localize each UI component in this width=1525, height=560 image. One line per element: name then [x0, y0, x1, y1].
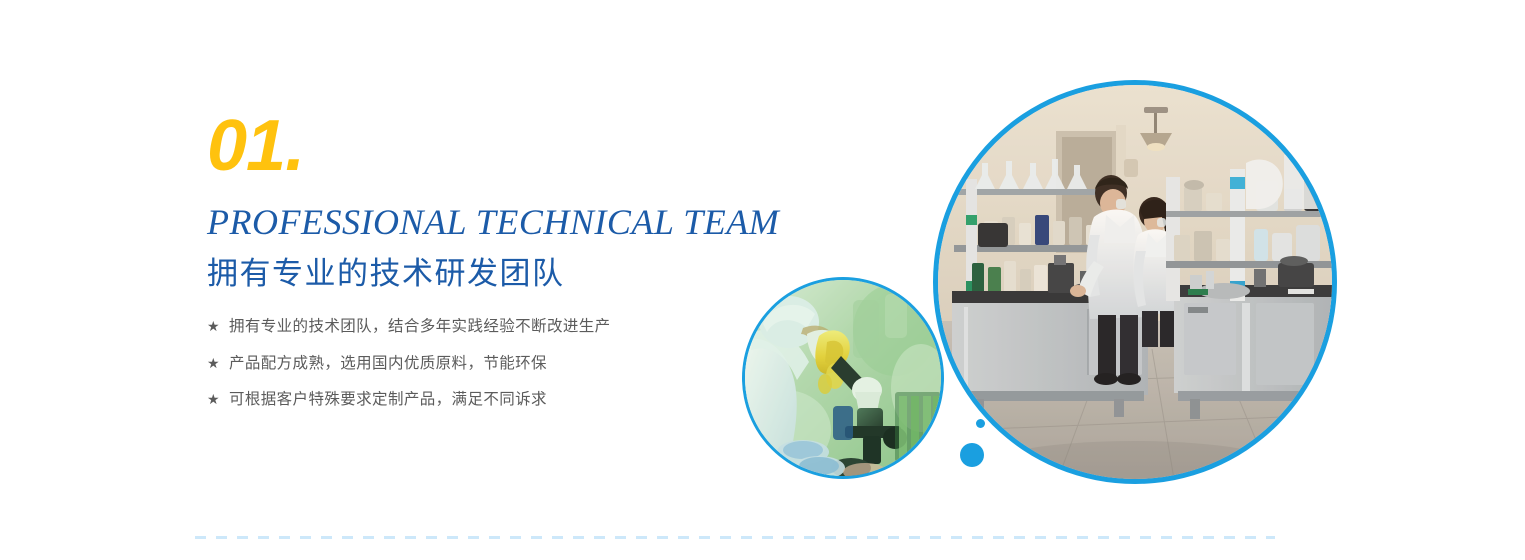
star-icon: ★	[207, 392, 220, 406]
title-english: PROFESSIONAL TECHNICAL TEAM	[207, 204, 907, 242]
photo-microscope	[745, 280, 941, 476]
list-item-label: 拥有专业的技术团队，结合多年实践经验不断改进生产	[229, 319, 611, 335]
decorative-dot-small	[976, 419, 985, 428]
list-item-label: 可根据客户特殊要求定制产品，满足不同诉求	[229, 392, 547, 408]
laboratory-room-illustration	[938, 85, 1332, 479]
promo-banner: 01. PROFESSIONAL TECHNICAL TEAM 拥有专业的技术研…	[0, 0, 1525, 560]
dashed-divider	[195, 536, 1275, 539]
decorative-dot-large	[960, 443, 984, 467]
star-icon: ★	[207, 356, 220, 370]
star-icon: ★	[207, 319, 220, 333]
photo-laboratory	[938, 85, 1332, 479]
section-number: 01.	[207, 112, 907, 186]
list-item-label: 产品配方成熟，选用国内优质原料，节能环保	[229, 356, 547, 372]
microscope-lab-illustration	[745, 280, 941, 476]
